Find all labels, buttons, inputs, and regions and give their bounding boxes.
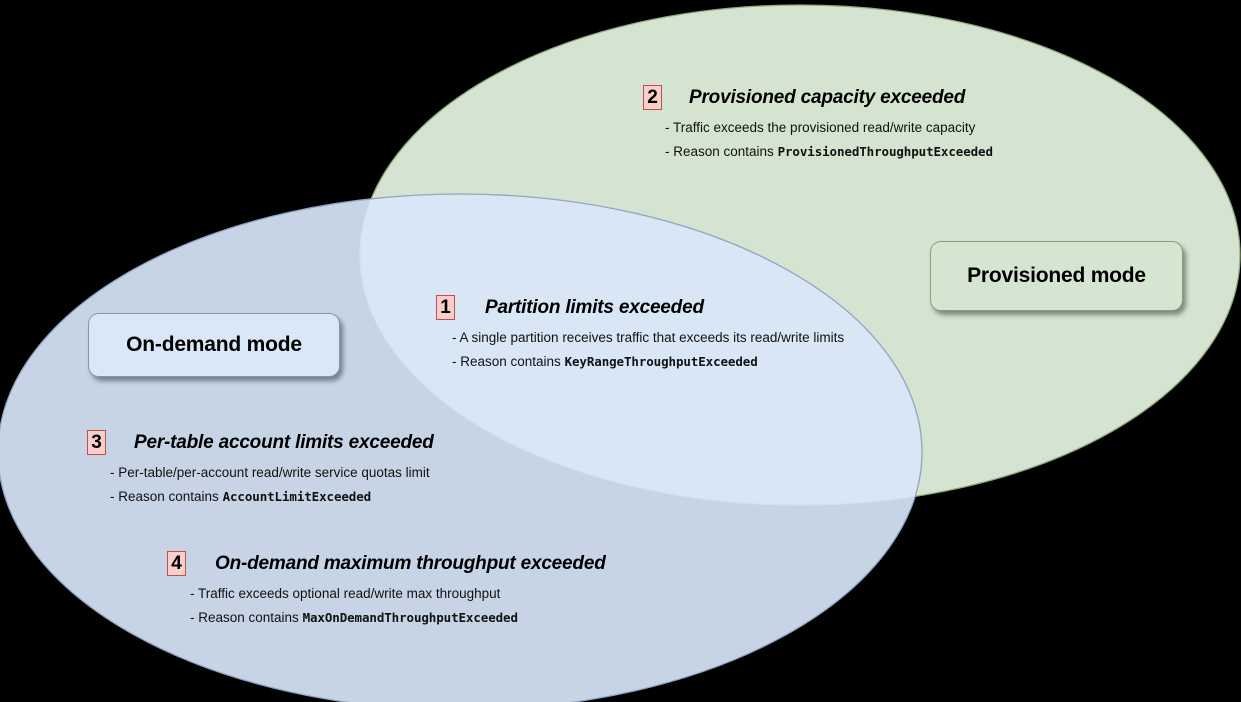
bullet-item: - Reason contains ProvisionedThroughputE…: [665, 145, 993, 159]
entry-header: 1 Partition limits exceeded: [436, 295, 844, 320]
bullet-code: ProvisionedThroughputExceeded: [778, 144, 993, 159]
entry-title: Per-table account limits exceeded: [134, 432, 434, 454]
bullet-item: - Per-table/per-account read/write servi…: [110, 466, 434, 480]
on-demand-mode-label: On-demand mode: [126, 333, 302, 357]
entry-per-table-account-limits-exceeded: 3 Per-table account limits exceeded - Pe…: [87, 430, 434, 513]
bullet-text: - Reason contains: [452, 354, 565, 369]
entry-bullets: - Per-table/per-account read/write servi…: [110, 466, 434, 503]
entry-on-demand-maximum-throughput-exceeded: 4 On-demand maximum throughput exceeded …: [167, 551, 606, 634]
entry-bullets: - A single partition receives traffic th…: [452, 331, 844, 368]
entry-number-badge: 3: [87, 430, 106, 455]
bullet-item: - Traffic exceeds the provisioned read/w…: [665, 121, 993, 135]
bullet-text: - A single partition receives traffic th…: [452, 330, 844, 345]
entry-header: 2 Provisioned capacity exceeded: [643, 85, 993, 110]
bullet-item: - Reason contains AccountLimitExceeded: [110, 490, 434, 504]
bullet-code: MaxOnDemandThroughputExceeded: [303, 610, 518, 625]
entry-number-badge: 1: [436, 295, 455, 320]
bullet-text: - Reason contains: [110, 489, 223, 504]
bullet-code: KeyRangeThroughputExceeded: [565, 354, 758, 369]
entry-bullets: - Traffic exceeds optional read/write ma…: [190, 587, 606, 624]
entry-number-badge: 4: [167, 551, 186, 576]
bullet-item: - Traffic exceeds optional read/write ma…: [190, 587, 606, 601]
bullet-code: AccountLimitExceeded: [223, 489, 372, 504]
bullet-text: - Traffic exceeds optional read/write ma…: [190, 586, 500, 601]
entry-bullets: - Traffic exceeds the provisioned read/w…: [665, 121, 993, 158]
entry-provisioned-capacity-exceeded: 2 Provisioned capacity exceeded - Traffi…: [643, 85, 993, 168]
bullet-text: - Per-table/per-account read/write servi…: [110, 465, 430, 480]
bullet-item: - Reason contains KeyRangeThroughputExce…: [452, 355, 844, 369]
bullet-item: - Reason contains MaxOnDemandThroughputE…: [190, 611, 606, 625]
entry-title: Provisioned capacity exceeded: [689, 87, 965, 109]
entry-header: 3 Per-table account limits exceeded: [87, 430, 434, 455]
bullet-item: - A single partition receives traffic th…: [452, 331, 844, 345]
entry-header: 4 On-demand maximum throughput exceeded: [167, 551, 606, 576]
entry-title: Partition limits exceeded: [485, 297, 704, 319]
bullet-text: - Traffic exceeds the provisioned read/w…: [665, 120, 975, 135]
on-demand-mode-label-box: On-demand mode: [88, 313, 340, 377]
entry-title: On-demand maximum throughput exceeded: [215, 553, 606, 575]
provisioned-mode-label-box: Provisioned mode: [930, 241, 1183, 311]
bullet-text: - Reason contains: [190, 610, 303, 625]
provisioned-mode-label: Provisioned mode: [967, 264, 1146, 288]
bullet-text: - Reason contains: [665, 144, 778, 159]
entry-partition-limits-exceeded: 1 Partition limits exceeded - A single p…: [436, 295, 844, 378]
entry-number-badge: 2: [643, 85, 662, 110]
